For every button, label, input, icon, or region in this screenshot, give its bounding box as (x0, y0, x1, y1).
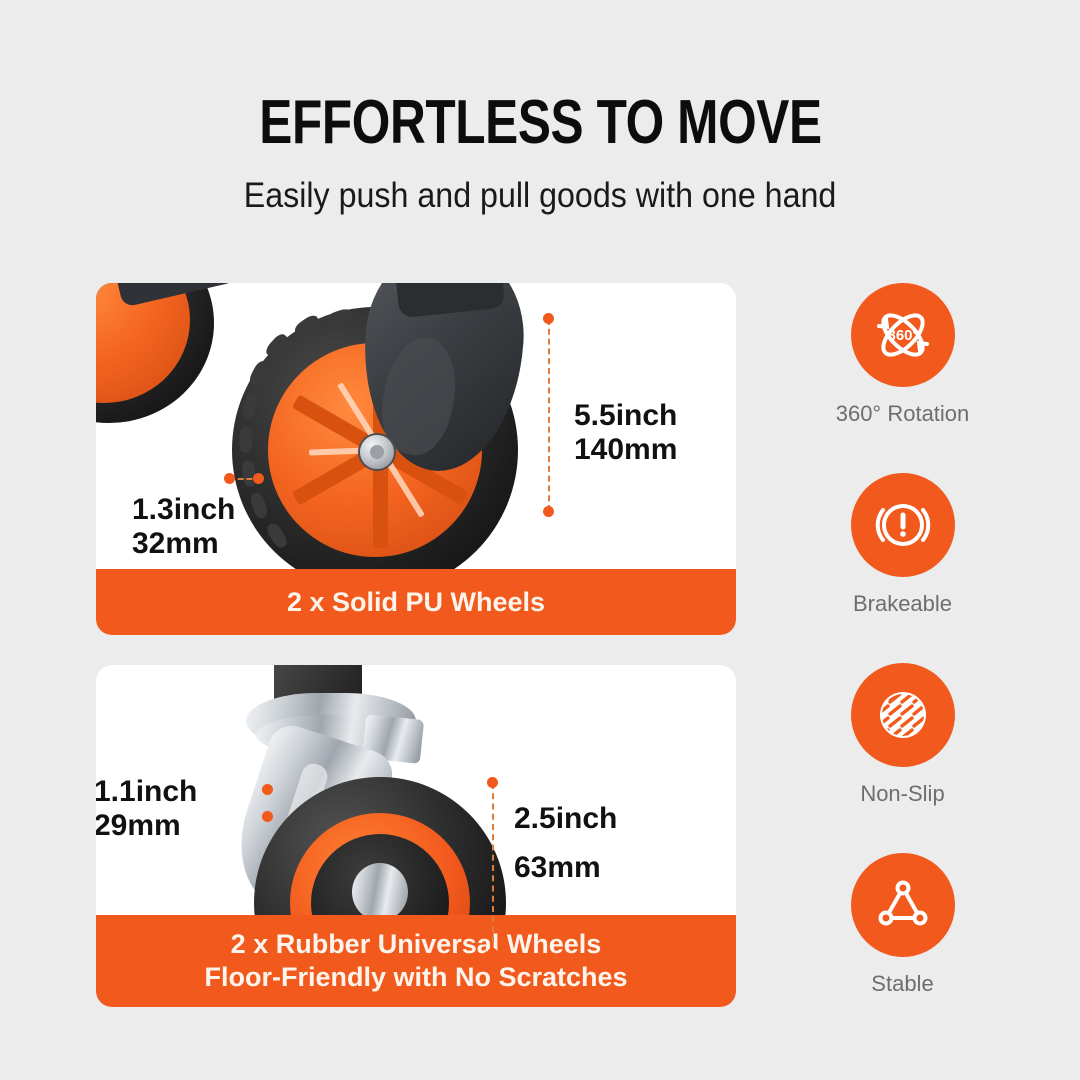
stability-triangle-icon (870, 872, 936, 938)
rotation-360-icon: 360° (870, 302, 936, 368)
dimension-inch: 2.5inch (514, 802, 617, 835)
brake-icon-dot (900, 531, 906, 537)
dimension-inch: 5.5inch (574, 399, 677, 432)
dimension-dot (487, 777, 498, 788)
feature-icon-circle (851, 853, 955, 957)
dimension-dot (487, 948, 498, 959)
product-panel-rubber-universal-wheels: 2.5inch 63mm 1.1inch 29mm 2 x Rubber Uni… (96, 665, 736, 1007)
dimension-mm: 63mm (514, 851, 601, 884)
dimension-dot (543, 313, 554, 324)
dimension-mm: 32mm (132, 527, 219, 560)
feature-icon-circle (851, 473, 955, 577)
dimension-label-diameter: 5.5inch 140mm (574, 399, 677, 467)
dimension-dot (543, 506, 554, 517)
page-title: EFFORTLESS TO MOVE (259, 92, 821, 154)
dimension-inch: 1.1inch (96, 775, 197, 808)
feature-item-360-rotation[interactable]: 360° 360° Rotation (795, 283, 1010, 427)
dimension-dot (262, 811, 273, 822)
dimension-dot (224, 473, 235, 484)
feature-icon-circle (851, 663, 955, 767)
caster-axle-hub (352, 863, 408, 921)
header: EFFORTLESS TO MOVE Easily push and pull … (0, 0, 1080, 250)
banner-text-line2: Floor-Friendly with No Scratches (204, 961, 627, 994)
feature-label: 360° Rotation (795, 401, 1010, 427)
panel-banner-rubber-universal: 2 x Rubber Universal Wheels Floor-Friend… (96, 915, 736, 1007)
product-panel-solid-pu-wheels: 5.5inch 140mm 1.3inch 32mm 2 x Solid PU … (96, 283, 736, 635)
axle-bolt-center (370, 445, 384, 459)
panel-banner-solid-pu: 2 x Solid PU Wheels (96, 569, 736, 635)
dimension-line-diameter (492, 783, 494, 953)
brake-icon (870, 492, 936, 558)
dimension-mm: 140mm (574, 433, 677, 466)
page-subtitle: Easily push and pull goods with one hand (244, 176, 837, 216)
banner-text: 2 x Solid PU Wheels (287, 587, 545, 618)
dimension-dot (262, 784, 273, 795)
dimension-dot (253, 473, 264, 484)
non-slip-tread-icon (870, 682, 936, 748)
dimension-label-diameter: 2.5inch 63mm (514, 795, 617, 892)
feature-label: Stable (795, 971, 1010, 997)
rotation-badge-text: 360° (887, 327, 918, 344)
banner-text-line1: 2 x Rubber Universal Wheels (231, 928, 602, 961)
feature-label: Brakeable (795, 591, 1010, 617)
dimension-line-diameter (548, 319, 550, 511)
feature-item-stable[interactable]: Stable (795, 853, 1010, 997)
dimension-label-width: 1.1inch 29mm (96, 775, 197, 843)
dimension-inch: 1.3inch (132, 493, 235, 526)
feature-icon-circle: 360° (851, 283, 955, 387)
feature-label: Non-Slip (795, 781, 1010, 807)
dimension-mm: 29mm (96, 809, 181, 842)
feature-list: 360° 360° Rotation Brakeable (795, 283, 1010, 1013)
dimension-label-width: 1.3inch 32mm (132, 493, 235, 561)
feature-item-non-slip[interactable]: Non-Slip (795, 663, 1010, 807)
feature-item-brakeable[interactable]: Brakeable (795, 473, 1010, 617)
